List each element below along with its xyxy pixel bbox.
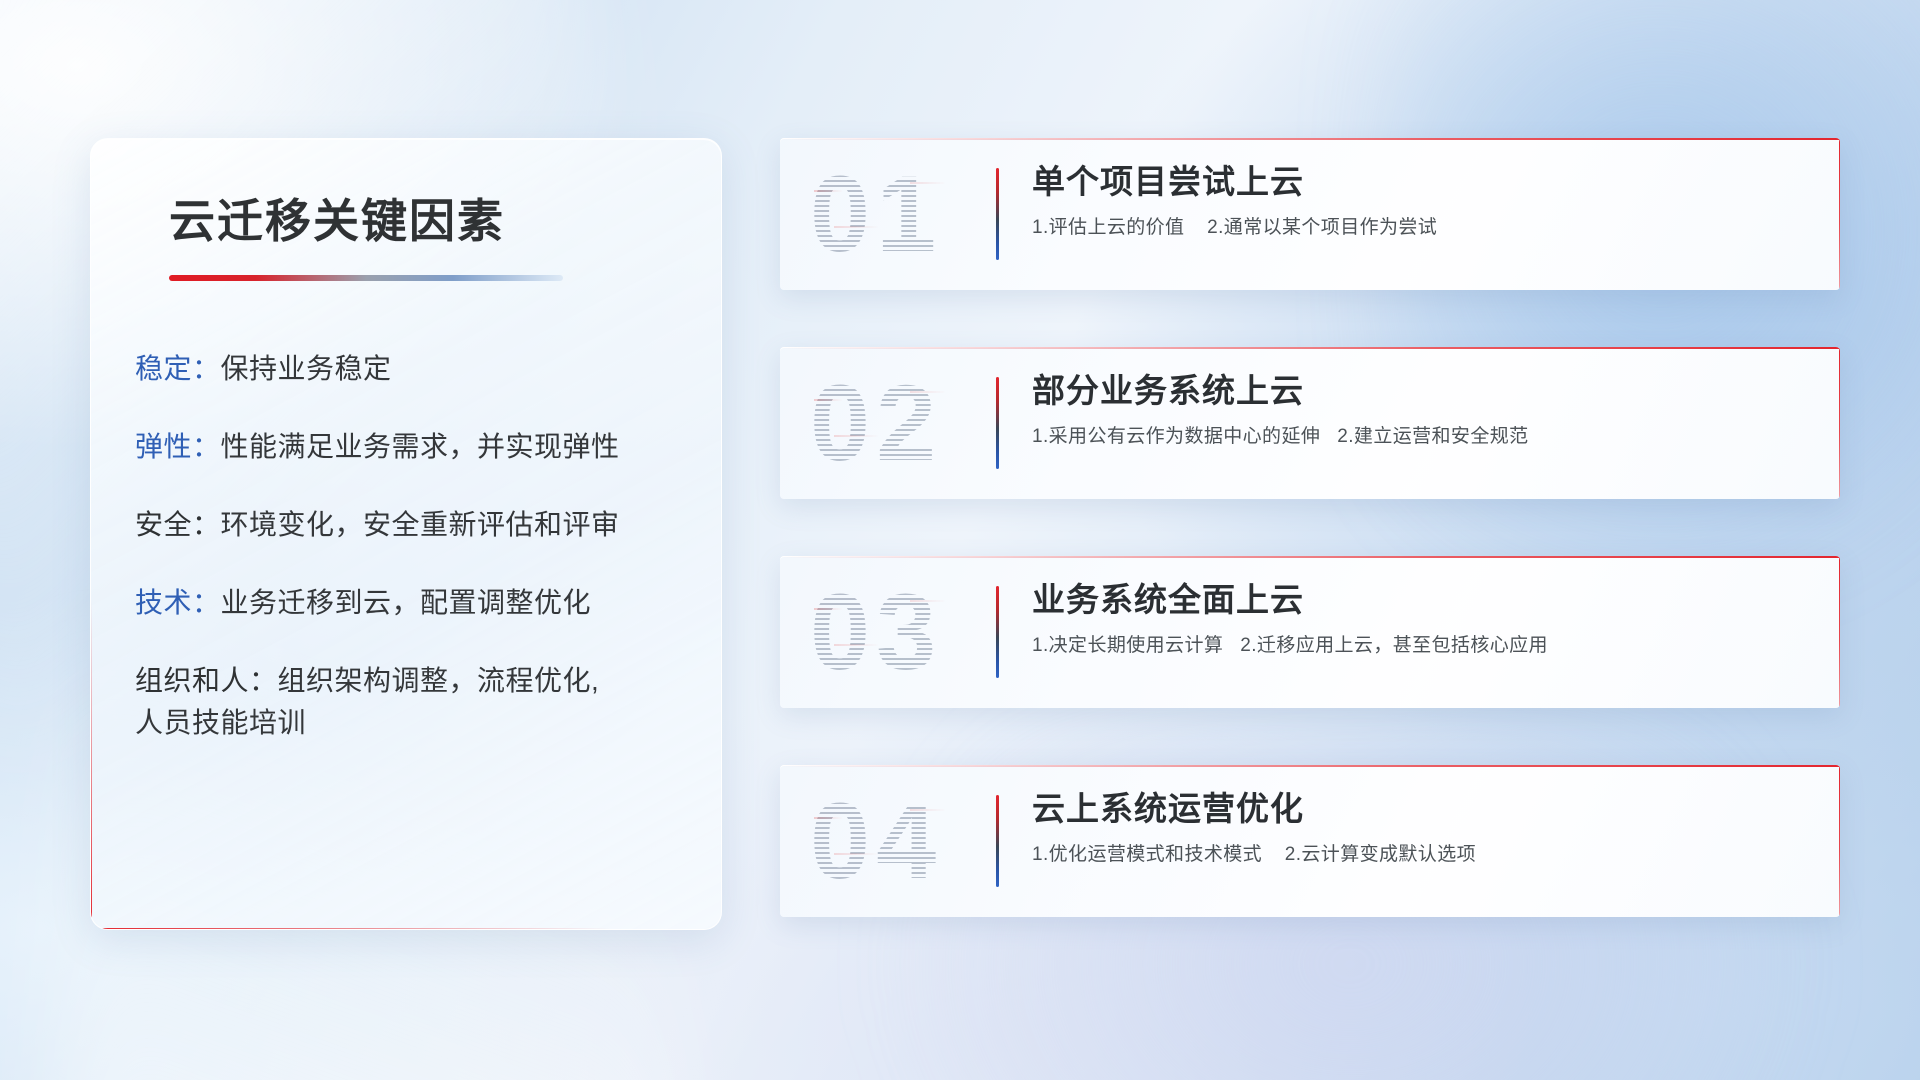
step-title: 部分业务系统上云	[1032, 373, 1816, 409]
step-text-block: 云上系统运营优化 1.优化运营模式和技术模式 2.云计算变成默认选项	[1032, 791, 1816, 867]
step-subtitle: 1.采用公有云作为数据中心的延伸 2.建立运营和安全规范	[1032, 426, 1816, 449]
factor-label: 组织和人：	[135, 665, 278, 696]
step-text-block: 部分业务系统上云 1.采用公有云作为数据中心的延伸 2.建立运营和安全规范	[1032, 373, 1816, 449]
migration-steps-list: 01 单个项目尝试上云 1.评估上云的价值 2.通常以某个项目作为尝试 02 部…	[780, 138, 1840, 917]
factor-label: 弹性：	[135, 431, 221, 462]
factor-list: 稳定：保持业务稳定 弹性：性能满足业务需求，并实现弹性 安全：环境变化，安全重新…	[91, 281, 721, 737]
step-divider-bar	[996, 168, 999, 260]
step-card[interactable]: 02 部分业务系统上云 1.采用公有云作为数据中心的延伸 2.建立运营和安全规范	[780, 347, 1840, 499]
step-divider-bar	[996, 795, 999, 887]
step-title: 单个项目尝试上云	[1032, 164, 1816, 200]
factor-body: 业务迁移到云，配置调整优化	[221, 587, 592, 618]
step-card[interactable]: 04 云上系统运营优化 1.优化运营模式和技术模式 2.云计算变成默认选项	[780, 765, 1840, 917]
step-title: 业务系统全面上云	[1032, 582, 1816, 618]
card-top-accent	[780, 556, 1840, 558]
list-item: 组织和人：组织架构调整，流程优化,	[135, 667, 721, 695]
factor-body: 保持业务稳定	[221, 353, 392, 384]
list-item: 技术：业务迁移到云，配置调整优化	[135, 589, 721, 617]
factor-label: 安全：	[135, 509, 221, 540]
page-title: 云迁移关键因素	[91, 139, 721, 251]
step-divider-bar	[996, 377, 999, 469]
step-number: 04	[810, 787, 942, 895]
card-right-accent	[1839, 556, 1841, 708]
step-title: 云上系统运营优化	[1032, 791, 1816, 827]
step-number: 02	[810, 369, 942, 477]
step-subtitle: 1.决定长期使用云计算 2.迁移应用上云，甚至包括核心应用	[1032, 635, 1816, 658]
step-text-block: 业务系统全面上云 1.决定长期使用云计算 2.迁移应用上云，甚至包括核心应用	[1032, 582, 1816, 658]
key-factors-panel: 云迁移关键因素 稳定：保持业务稳定 弹性：性能满足业务需求，并实现弹性 安全：环…	[90, 138, 722, 930]
step-subtitle: 1.评估上云的价值 2.通常以某个项目作为尝试	[1032, 217, 1816, 240]
card-right-accent	[1839, 138, 1841, 290]
step-number: 03	[810, 578, 942, 686]
card-right-accent	[1839, 347, 1841, 499]
list-item: 安全：环境变化，安全重新评估和评审	[135, 511, 721, 539]
card-top-accent	[780, 138, 1840, 140]
factor-label: 稳定：	[135, 353, 221, 384]
list-item-continuation: 人员技能培训	[135, 709, 721, 737]
step-number: 01	[810, 160, 942, 268]
card-top-accent	[780, 347, 1840, 349]
factor-label: 技术：	[135, 587, 221, 618]
card-right-accent	[1839, 765, 1841, 917]
step-divider-bar	[996, 586, 999, 678]
card-top-accent	[780, 765, 1840, 767]
factor-body: 环境变化，安全重新评估和评审	[221, 509, 620, 540]
factor-body: 性能满足业务需求，并实现弹性	[221, 431, 620, 462]
list-item: 稳定：保持业务稳定	[135, 355, 721, 383]
factor-body: 人员技能培训	[135, 707, 306, 738]
step-card[interactable]: 01 单个项目尝试上云 1.评估上云的价值 2.通常以某个项目作为尝试	[780, 138, 1840, 290]
step-card[interactable]: 03 业务系统全面上云 1.决定长期使用云计算 2.迁移应用上云，甚至包括核心应…	[780, 556, 1840, 708]
step-subtitle: 1.优化运营模式和技术模式 2.云计算变成默认选项	[1032, 844, 1816, 867]
list-item: 弹性：性能满足业务需求，并实现弹性	[135, 433, 721, 461]
slide-canvas: 云迁移关键因素 稳定：保持业务稳定 弹性：性能满足业务需求，并实现弹性 安全：环…	[0, 0, 1920, 1080]
step-text-block: 单个项目尝试上云 1.评估上云的价值 2.通常以某个项目作为尝试	[1032, 164, 1816, 240]
factor-body: 组织架构调整，流程优化,	[278, 665, 600, 696]
